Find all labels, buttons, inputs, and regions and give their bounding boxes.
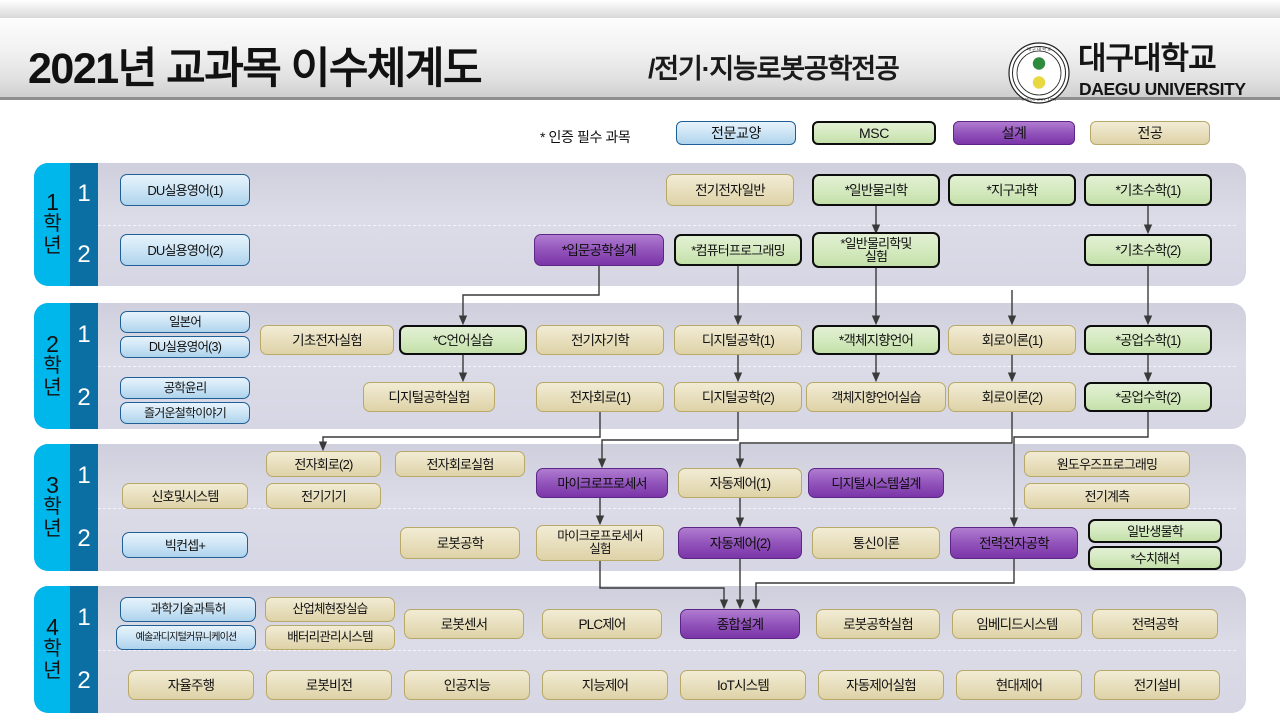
course-box[interactable]: 로봇공학 <box>400 527 520 559</box>
year-number: 3 <box>46 475 58 496</box>
course-box[interactable]: *일반물리학및 실험 <box>812 232 940 268</box>
course-box[interactable]: 지능제어 <box>542 670 668 700</box>
course-box[interactable]: 통신이론 <box>812 527 940 559</box>
logo-text-korean: 대구대학교 <box>1078 42 1216 76</box>
year-label-2: 2학 년 <box>34 303 70 429</box>
year-number: 1 <box>46 192 58 213</box>
course-box[interactable]: *수치해석 <box>1088 546 1222 570</box>
course-box[interactable]: PLC제어 <box>542 609 662 639</box>
course-box[interactable]: 디지털공학실험 <box>363 382 495 412</box>
course-box[interactable]: *객체지향언어 <box>812 325 940 355</box>
semester-label-2-2: 2 <box>70 366 98 429</box>
semester-divider <box>98 225 1236 226</box>
legend-item-liberal: 전문교양 <box>676 121 796 145</box>
semester-label-4-1: 1 <box>70 586 98 650</box>
course-box[interactable]: 디지털공학(1) <box>674 325 802 355</box>
year-unit-label: 학 년 <box>43 496 60 540</box>
course-box[interactable]: 로봇센서 <box>404 609 524 639</box>
course-box[interactable]: 전자회로(1) <box>536 382 664 412</box>
daegu-university-seal-icon: 대 구 대 학 교 DAEGU UNIV. 1956 <box>1008 42 1070 104</box>
course-box[interactable]: 자동제어(1) <box>678 468 802 498</box>
course-box[interactable]: 디지털공학(2) <box>674 382 802 412</box>
course-box[interactable]: DU실용영어(3) <box>120 336 250 358</box>
course-box[interactable]: 과학기술과특허 <box>120 597 256 622</box>
year-unit-label: 학 년 <box>43 638 60 682</box>
course-box[interactable]: 자동제어실험 <box>818 670 944 700</box>
semester-column-year-1: 12 <box>70 163 98 286</box>
course-box[interactable]: 객체지향언어실습 <box>806 382 946 412</box>
course-box[interactable]: 회로이론(2) <box>948 382 1076 412</box>
svg-text:대 구 대 학 교: 대 구 대 학 교 <box>1027 46 1051 53</box>
logo-text-english: DAEGU UNIVERSITY <box>1079 79 1246 100</box>
semester-divider <box>98 650 1236 651</box>
course-box[interactable]: 자율주행 <box>128 670 254 700</box>
course-box[interactable]: *지구과학 <box>948 174 1076 206</box>
course-box[interactable]: 전기기기 <box>266 483 381 509</box>
course-box[interactable]: 전기계측 <box>1024 483 1190 509</box>
semester-label-4-2: 2 <box>70 650 98 714</box>
course-box[interactable]: 회로이론(1) <box>948 325 1076 355</box>
course-box[interactable]: 인공지능 <box>404 670 530 700</box>
header-top-strip <box>0 0 1280 18</box>
course-box[interactable]: 즐거운철학이야기 <box>120 402 250 424</box>
legend-item-design: 설계 <box>953 121 1075 145</box>
course-box[interactable]: 신호및시스템 <box>122 483 248 509</box>
course-box[interactable]: 일반생물학 <box>1088 519 1222 543</box>
semester-label-1-2: 2 <box>70 225 98 287</box>
course-box[interactable]: 산업체현장실습 <box>265 597 395 622</box>
university-logo: 대 구 대 학 교 DAEGU UNIV. 1956 대구대학교 DAEGU U… <box>1008 42 1256 104</box>
semester-label-3-2: 2 <box>70 508 98 572</box>
course-box[interactable]: *공업수학(2) <box>1084 382 1212 412</box>
course-box[interactable]: *입문공학설계 <box>534 234 664 266</box>
semester-column-year-2: 12 <box>70 303 98 429</box>
course-box[interactable]: 마이크로프로세서 <box>536 468 668 498</box>
course-box[interactable]: 로봇공학실험 <box>816 609 940 639</box>
course-box[interactable]: 배터리관리시스템 <box>265 625 395 650</box>
course-box[interactable]: 전력공학 <box>1092 609 1218 639</box>
page-subtitle: /전기·지능로봇공학전공 <box>648 47 899 86</box>
semester-column-year-3: 12 <box>70 444 98 571</box>
svg-text:DAEGU UNIV. 1956: DAEGU UNIV. 1956 <box>1022 97 1057 102</box>
legend-item-major: 전공 <box>1090 121 1210 145</box>
course-box[interactable]: 자동제어(2) <box>678 527 802 559</box>
course-box[interactable]: 디지털시스템설계 <box>808 468 944 498</box>
course-box[interactable]: IoT시스템 <box>680 670 806 700</box>
course-box[interactable]: 전자회로(2) <box>266 451 381 477</box>
year-label-3: 3학 년 <box>34 444 70 571</box>
year-unit-label: 학 년 <box>43 213 60 257</box>
page-header: 2021년 교과목 이수체계도 /전기·지능로봇공학전공 대 구 대 학 교 D… <box>0 18 1280 100</box>
course-box[interactable]: 현대제어 <box>956 670 1082 700</box>
semester-column-year-4: 12 <box>70 586 98 713</box>
semester-label-2-1: 1 <box>70 303 98 366</box>
year-label-4: 4학 년 <box>34 586 70 713</box>
legend-note: * 인증 필수 과목 <box>540 127 630 147</box>
course-box[interactable]: 전력전자공학 <box>950 527 1078 559</box>
course-box[interactable]: 예술과디지털커뮤니케이션 <box>116 625 256 650</box>
legend-item-msc: MSC <box>812 121 936 145</box>
course-box[interactable]: 기초전자실험 <box>260 325 394 355</box>
course-box[interactable]: 원도우즈프로그래밍 <box>1024 451 1190 477</box>
course-box[interactable]: 전기설비 <box>1094 670 1220 700</box>
semester-label-3-1: 1 <box>70 444 98 508</box>
course-box[interactable]: 공학윤리 <box>120 377 250 399</box>
course-box[interactable]: 일본어 <box>120 311 250 333</box>
page-title: 2021년 교과목 이수체계도 <box>28 34 481 96</box>
course-box[interactable]: *기초수학(1) <box>1084 174 1212 206</box>
course-box[interactable]: *C언어실습 <box>399 325 527 355</box>
course-box[interactable]: DU실용영어(1) <box>120 174 250 206</box>
course-box[interactable]: DU실용영어(2) <box>120 234 250 266</box>
course-box[interactable]: 종합설계 <box>680 609 800 639</box>
course-box[interactable]: 전자회로실험 <box>395 451 525 477</box>
year-number: 4 <box>46 617 58 638</box>
course-box[interactable]: 마이크로프로세서 실험 <box>536 525 664 561</box>
course-box[interactable]: 로봇비전 <box>266 670 392 700</box>
year-label-1: 1학 년 <box>34 163 70 286</box>
course-box[interactable]: 임베디드시스템 <box>952 609 1082 639</box>
course-box[interactable]: 전기자기학 <box>536 325 664 355</box>
semester-label-1-1: 1 <box>70 163 98 225</box>
year-unit-label: 학 년 <box>43 355 60 399</box>
semester-divider <box>98 366 1236 367</box>
course-box[interactable]: 전기전자일반 <box>666 174 794 206</box>
course-box[interactable]: *컴퓨터프로그래밍 <box>674 234 802 266</box>
course-box[interactable]: *공업수학(1) <box>1084 325 1212 355</box>
course-box[interactable]: *기초수학(2) <box>1084 234 1212 266</box>
course-box[interactable]: 빅컨셉+ <box>122 532 248 558</box>
course-box[interactable]: *일반물리학 <box>812 174 940 206</box>
year-number: 2 <box>46 334 58 355</box>
